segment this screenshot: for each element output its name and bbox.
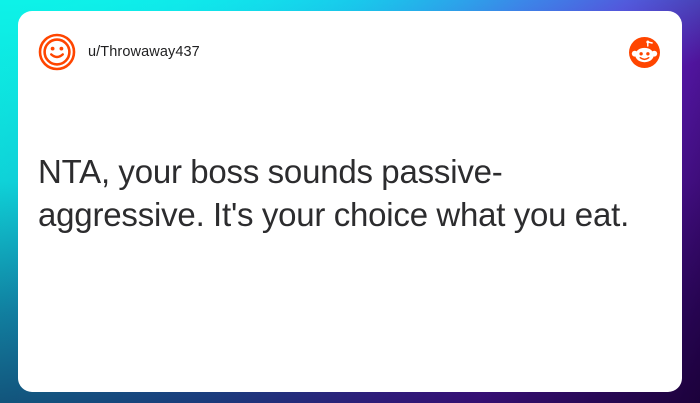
comment-author[interactable]: u/Throwaway437: [38, 33, 629, 71]
comment-text: NTA, your boss sounds passive-aggressive…: [38, 151, 660, 237]
card-header: u/Throwaway437: [18, 11, 682, 93]
reddit-snoo-logo-icon[interactable]: [629, 37, 660, 68]
smiley-face-avatar-icon: [38, 33, 76, 71]
reddit-comment-card: u/Throwaway437 NTA, your boss sound: [18, 11, 682, 392]
card-body: NTA, your boss sounds passive-aggressive…: [38, 151, 660, 237]
author-username: u/Throwaway437: [88, 45, 200, 60]
screenshot-stage: u/Throwaway437 NTA, your boss sound: [0, 0, 700, 403]
